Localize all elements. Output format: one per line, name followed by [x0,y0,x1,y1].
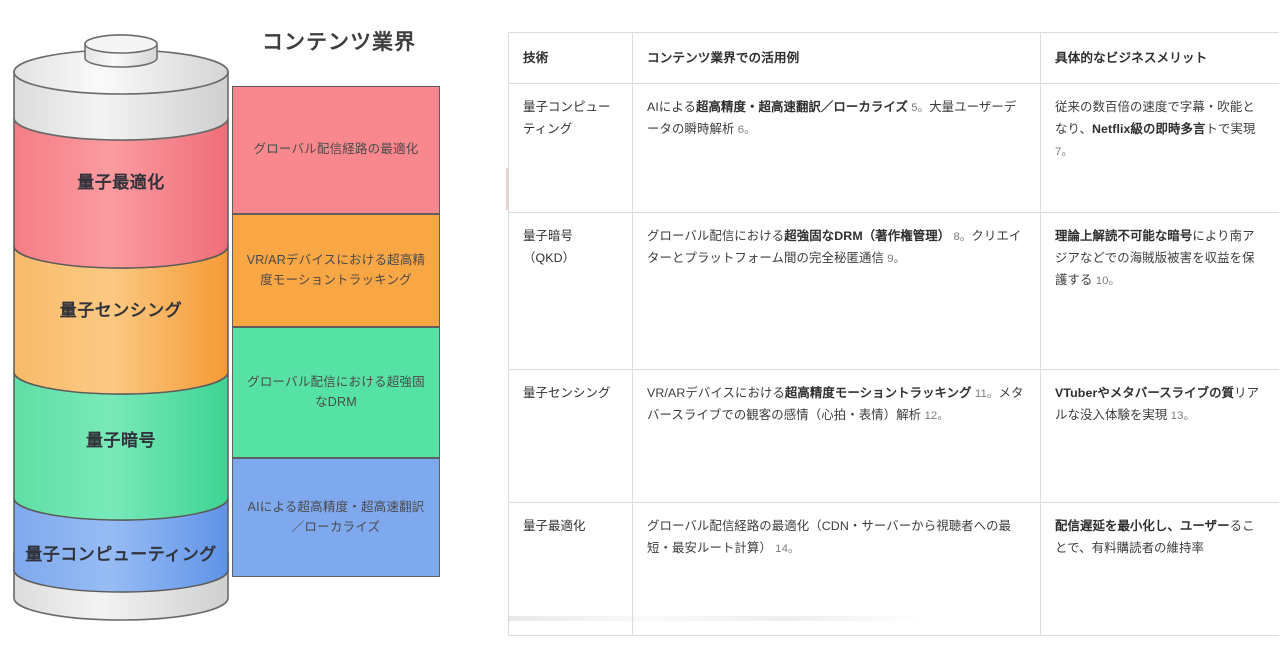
technology-table-container: 技術 コンテンツ業界での活用例 具体的なビジネスメリット 量子コンピューティング… [508,32,1248,614]
usage-text: AIによる [647,100,696,114]
usage-emphasis: 超強固なDRM [784,229,862,243]
cell-business-merit: 従来の数百倍の速度で字幕・吹能となり、Netflix級の即時多言トで実現 7。 [1041,84,1280,213]
usage-emphasis: 超高精度モーショントラッキング [785,386,972,400]
battery-diagram: コンテンツ業界 [0,0,480,670]
column-header-business-merit: 具体的なビジネスメリット [1041,33,1280,84]
merit-emphasis: 理論上解読不可能な暗号 [1055,229,1192,243]
column-header-technology: 技術 [509,33,633,84]
usage-emphasis: 超高精度・超高速翻訳／ローカライズ [696,100,908,114]
usage-ref-2: 9。 [884,253,905,265]
cell-business-merit: VTuberやメタバースライブの質リアルな没入体験を実現 13。 [1041,370,1280,503]
table-row: 量子暗号（QKD） グローバル配信における超強固なDRM（著作権管理） 8。クリ… [509,213,1280,370]
battery-graphic: 量子最適化 量子センシング 量子暗号 量子コンピューティング [10,32,232,624]
usage-ref: 5。 [908,102,929,114]
table-row: 量子センシング VR/ARデバイスにおける超高精度モーショントラッキング 11。… [509,370,1280,503]
usage-ref: 11。 [972,388,999,400]
merit-ref: 13。 [1167,410,1195,422]
cell-business-merit: 配信遅延を最小化し、ユーザーることで、有料購読者の維持率 [1041,503,1280,636]
usage-text-2: （著作権管理） [863,229,950,243]
technology-table: 技術 コンテンツ業界での活用例 具体的なビジネスメリット 量子コンピューティング… [508,32,1280,636]
column-header-usage-example: コンテンツ業界での活用例 [633,33,1041,84]
cell-usage-example: VR/ARデバイスにおける超高精度モーショントラッキング 11。メタバースライブ… [633,370,1041,503]
usage-ref: 14。 [772,543,800,555]
callout-quantum-computing: AIによる超高精度・超高速翻訳／ローカライズ [232,458,440,577]
callout-quantum-cryptography: グローバル配信における超強固なDRM [232,327,440,458]
merit-text: により [1192,229,1229,243]
merit-emphasis: Netflix級の即時多言 [1092,122,1206,136]
diagram-title: コンテンツ業界 [262,26,416,56]
merit-ref: 10。 [1092,275,1120,287]
usage-text: VR/ARデバイスにおける [647,386,785,400]
cell-technology: 量子コンピューティング [509,84,633,213]
merit-emphasis: VTuberやメタバースライブの質 [1055,386,1234,400]
cell-technology: 量子暗号（QKD） [509,213,633,370]
battery-cylinder-icon [10,32,232,624]
cell-business-merit: 理論上解読不可能な暗号により南アジアなどでの海賊版被害を収益を保護する 10。 [1041,213,1280,370]
table-row: 量子コンピューティング AIによる超高精度・超高速翻訳／ローカライズ 5。大量ユ… [509,84,1280,213]
callout-quantum-sensing: VR/ARデバイスにおける超高精度モーショントラッキング [232,214,440,327]
cell-usage-example: グローバル配信における超強固なDRM（著作権管理） 8。クリエイターとプラットフ… [633,213,1041,370]
page-smudge-artifact [508,616,928,621]
usage-ref: 8。 [950,231,971,243]
cell-usage-example: AIによる超高精度・超高速翻訳／ローカライズ 5。大量ユーザーデータの瞬時解析 … [633,84,1041,213]
merit-text-3: トで実現 [1206,122,1256,136]
table-header-row: 技術 コンテンツ業界での活用例 具体的なビジネスメリット [509,33,1280,84]
merit-emphasis: 配信遅延を最小化し、ユーザー [1055,519,1230,533]
merit-ref: 7。 [1055,146,1073,158]
usage-ref-2: 6。 [734,124,755,136]
usage-ref-2: 12。 [921,410,949,422]
callout-quantum-optimization: グローバル配信経路の最適化 [232,86,440,214]
merit-text: 従来の数百倍の速度で字幕・吹 [1055,100,1230,114]
usage-text: グローバル配信における [647,229,784,243]
usage-text: グローバル配信経路の最適化（CDN・サーバーから視聴者への最短・最安ルート計算） [647,519,1011,555]
cell-technology: 量子センシング [509,370,633,503]
